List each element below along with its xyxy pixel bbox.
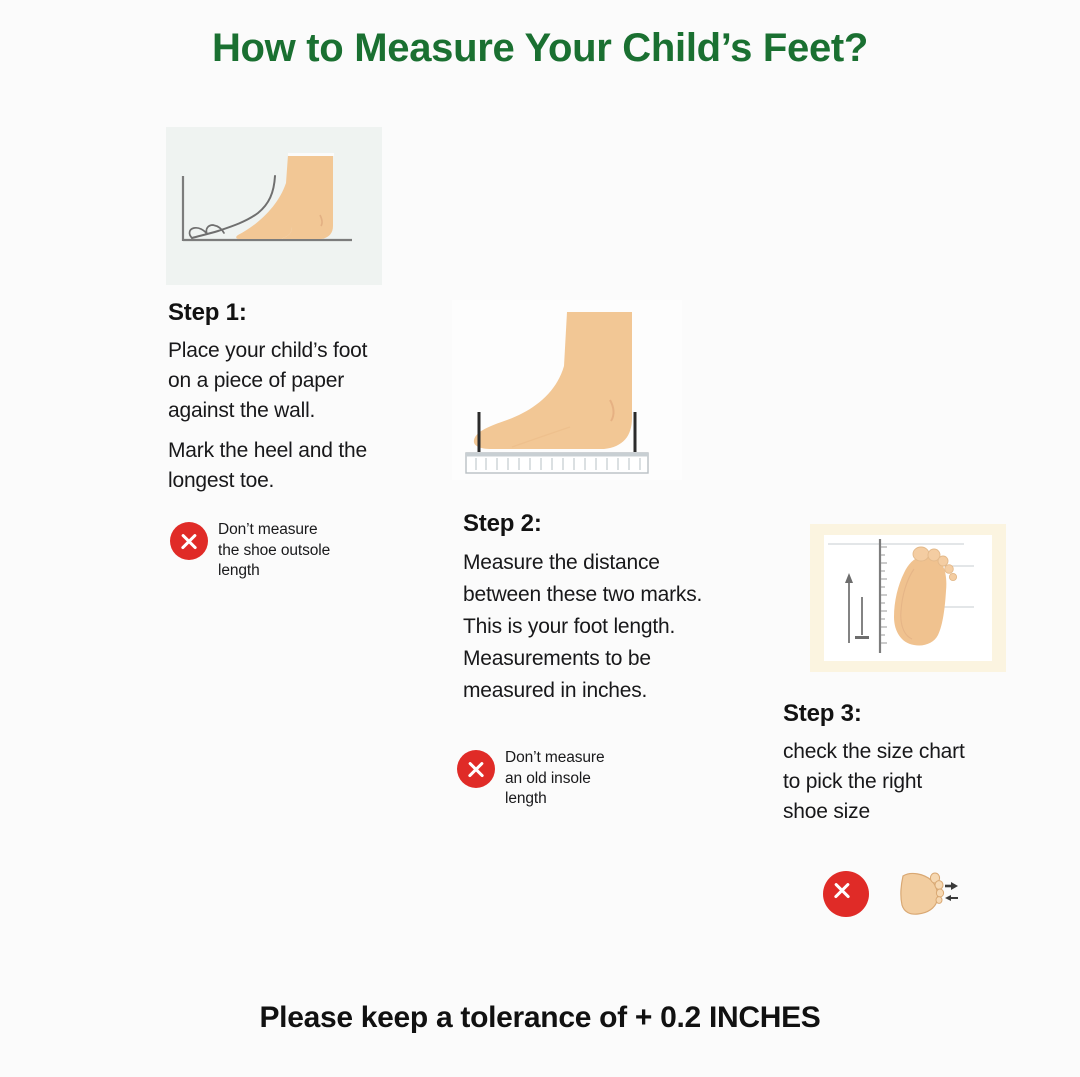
step-2-warning-text: Don’t measure an old insole length (505, 748, 605, 810)
step-1-line-5: longest toe. (168, 466, 408, 496)
foot-width-arrows-icon (895, 865, 959, 921)
step-2-warning-line-1: Don’t measure (505, 748, 605, 769)
step-2-warning-line-2: an old insole (505, 769, 605, 790)
red-cross-circle-icon (823, 871, 869, 917)
step-1-heading: Step 1: (168, 299, 408, 327)
step-1-line-1: Place your child’s foot (168, 336, 408, 366)
step-3-illustration (810, 524, 1006, 672)
step-1-warning-line-1: Don’t measure (218, 520, 330, 541)
foot-sole-on-size-chart-icon (824, 535, 992, 661)
step-2-illustration (452, 300, 682, 480)
tolerance-note: Please keep a tolerance of + 0.2 INCHES (0, 1001, 1080, 1035)
step-3-body: check the size chart to pick the right s… (783, 737, 1023, 827)
step-1-illustration (166, 127, 382, 285)
step-1-warning-text: Don’t measure the shoe outsole length (218, 520, 330, 582)
step-2-line-5: measured in inches. (463, 675, 783, 707)
step-3-line-3: shoe size (783, 797, 1023, 827)
step-1-line-2: on a piece of paper (168, 366, 408, 396)
step-2-text-block: Step 2: Measure the distance between the… (463, 510, 783, 707)
foot-side-with-ruler-icon (452, 300, 682, 480)
step-2-warning-line-3: length (505, 789, 605, 810)
step-3-text-block: Step 3: check the size chart to pick the… (783, 700, 1023, 827)
foot-side-against-wall-icon (166, 127, 382, 285)
step-1-line-3: against the wall. (168, 396, 408, 426)
step-2-line-4: Measurements to be (463, 643, 783, 675)
step-2-line-3: This is your foot length. (463, 611, 783, 643)
step-2-warning: Don’t measure an old insole length (457, 748, 677, 810)
step-1-text-block: Step 1: Place your child’s foot on a pie… (168, 299, 408, 496)
step-2-line-1: Measure the distance (463, 547, 783, 579)
step-1-body: Place your child’s foot on a piece of pa… (168, 336, 408, 496)
red-cross-circle-icon (457, 750, 495, 788)
step-2-body: Measure the distance between these two m… (463, 547, 783, 707)
step-1-line-4: Mark the heel and the (168, 436, 408, 466)
step-1-warning-line-2: the shoe outsole (218, 541, 330, 562)
step-3-heading: Step 3: (783, 700, 1023, 728)
page-title: How to Measure Your Child’s Feet? (0, 26, 1080, 71)
step-3-size-chart (824, 535, 992, 661)
step-2-heading: Step 2: (463, 510, 783, 538)
step-1-warning: Don’t measure the shoe outsole length (170, 520, 380, 582)
step-3-warning-graphic (895, 865, 959, 921)
red-cross-circle-icon (170, 522, 208, 560)
step-3-warning (823, 865, 959, 921)
step-2-line-2: between these two marks. (463, 579, 783, 611)
step-3-line-2: to pick the right (783, 767, 1023, 797)
step-1-warning-line-3: length (218, 561, 330, 582)
step-3-line-1: check the size chart (783, 737, 1023, 767)
infographic-page: How to Measure Your Child’s Feet? Step 1… (0, 0, 1080, 1077)
